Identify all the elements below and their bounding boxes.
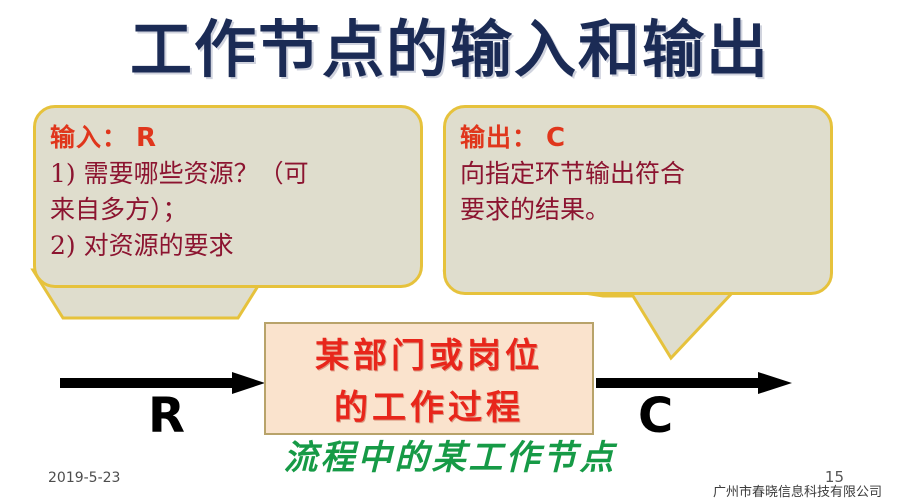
output-arrow-icon — [596, 370, 796, 400]
page-title: 工作节点的输入和输出 — [0, 8, 900, 92]
output-heading-text: 输出： — [460, 123, 538, 152]
process-node-box: 某部门或岗位 的工作过程 — [264, 322, 594, 435]
input-callout-heading: 输入：R — [50, 118, 410, 154]
process-line-2: 的工作过程 — [266, 382, 592, 434]
footer-date: 2019-5-23 — [48, 470, 120, 486]
output-callout-heading: 输出：C — [460, 118, 820, 154]
input-callout-line-3: 2) 对资源的要求 — [50, 228, 410, 264]
input-callout-line-1: 1) 需要哪些资源？（可 — [50, 156, 410, 192]
output-callout: 输出：C 向指定环节输出符合 要求的结果。 — [443, 105, 833, 295]
input-marker: R — [128, 123, 157, 153]
caption-text: 流程中的某工作节点 — [0, 436, 900, 480]
input-heading-text: 输入： — [50, 123, 128, 152]
input-callout: 输入：R 1) 需要哪些资源？（可 来自多方）； 2) 对资源的要求 — [33, 105, 423, 288]
process-line-1: 某部门或岗位 — [266, 330, 592, 382]
output-callout-line-2: 要求的结果。 — [460, 192, 820, 228]
slide-canvas: 工作节点的输入和输出 输入：R 1) 需要哪些资源？（可 来自多方）； 2) 对… — [0, 0, 900, 502]
input-callout-line-2: 来自多方）； — [50, 192, 410, 228]
footer-company: 广州市春晓信息科技有限公司 — [713, 481, 882, 500]
output-marker: C — [538, 123, 566, 153]
output-callout-line-1: 向指定环节输出符合 — [460, 156, 820, 192]
process-node-text: 某部门或岗位 的工作过程 — [266, 330, 592, 434]
output-callout-content: 输出：C 向指定环节输出符合 要求的结果。 — [460, 118, 820, 228]
input-arrow-label: R — [148, 392, 185, 440]
output-arrow-label: C — [638, 392, 673, 440]
input-callout-content: 输入：R 1) 需要哪些资源？（可 来自多方）； 2) 对资源的要求 — [50, 118, 410, 264]
